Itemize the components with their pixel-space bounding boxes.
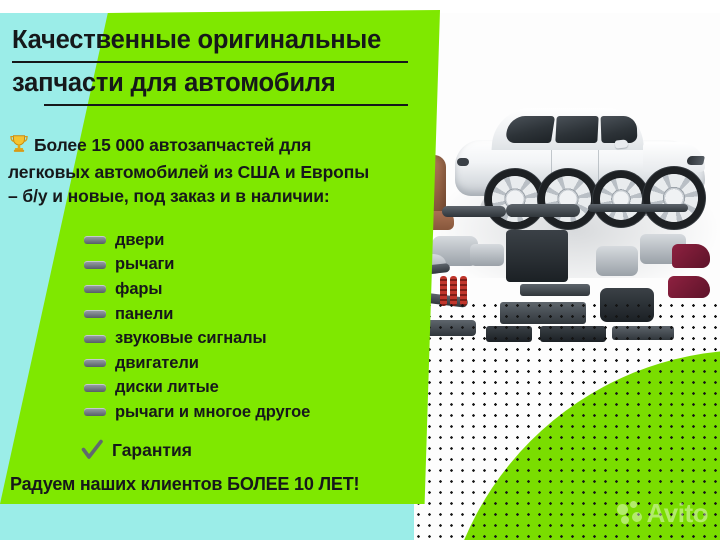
transmission-part xyxy=(596,246,638,276)
headline-rule-1 xyxy=(12,61,408,63)
trophy-icon xyxy=(8,133,32,161)
guarantee-label: Гарантия xyxy=(112,440,192,461)
intro-line-2: легковых автомобилей из США и Европы xyxy=(8,162,369,182)
list-item: звуковые сигналы xyxy=(84,326,424,351)
exhaust-pipe-part xyxy=(442,206,506,217)
parts-list: двери рычаги фары панели звуковые сигнал… xyxy=(84,228,424,425)
muffler-part xyxy=(506,204,580,217)
headline-line-2: запчасти для автомобиля xyxy=(12,71,412,97)
list-item-label: двигатели xyxy=(115,354,199,373)
list-item-label: рычаги xyxy=(115,255,174,274)
intro-paragraph: Более 15 000 автозапчастей для легковых … xyxy=(8,133,420,208)
list-item-label: фары xyxy=(115,280,162,299)
avito-wordmark: Avito xyxy=(646,500,708,526)
ad-content: Качественные оригинальные запчасти для а… xyxy=(0,0,440,540)
dash-bullet-icon xyxy=(84,261,106,269)
advertisement-banner: Качественные оригинальные запчасти для а… xyxy=(0,0,720,540)
headline-line-1: Качественные оригинальные xyxy=(12,28,412,54)
guarantee-row: Гарантия xyxy=(80,438,192,462)
dash-bullet-icon xyxy=(84,285,106,293)
intro-line-1: Более 15 000 автозапчастей для xyxy=(34,135,311,155)
car-door-seam xyxy=(598,150,599,184)
list-item: панели xyxy=(84,302,424,327)
car-door-seam xyxy=(551,150,552,184)
footer-tagline: Радуем наших клиентов БОЛЕЕ 10 ЛЕТ! xyxy=(10,474,430,495)
engine-manifold-part xyxy=(506,230,568,282)
list-item: фары xyxy=(84,277,424,302)
car-rear-door-window xyxy=(555,116,598,143)
car-headlight xyxy=(686,156,705,165)
car-front-door-window xyxy=(601,116,638,143)
dash-bullet-icon xyxy=(84,335,106,343)
dash-bullet-icon xyxy=(84,384,106,392)
page-title: Качественные оригинальные запчасти для а… xyxy=(12,28,412,106)
list-item: двери xyxy=(84,228,424,253)
tail-light-part xyxy=(672,244,710,268)
intro-line-3: – б/у и новые, под заказ и в наличии: xyxy=(8,186,330,206)
alloy-wheel xyxy=(600,178,642,220)
list-item-label: двери xyxy=(115,231,164,250)
list-item-label: рычаги и многое другое xyxy=(115,403,310,422)
gearbox-part xyxy=(470,244,504,266)
headline-rule-2 xyxy=(44,104,408,106)
dash-bullet-icon xyxy=(84,236,106,244)
avito-watermark: Avito xyxy=(617,500,708,526)
avito-logo-icon xyxy=(617,501,641,525)
dash-bullet-icon xyxy=(84,359,106,367)
tail-light-part xyxy=(668,276,710,298)
drive-shaft-part xyxy=(588,204,688,212)
list-item: диски литые xyxy=(84,376,424,401)
list-item-label: панели xyxy=(115,305,173,324)
list-item: двигатели xyxy=(84,351,424,376)
list-item-label: диски литые xyxy=(115,378,219,397)
list-item: рычаги xyxy=(84,253,424,278)
check-mark-icon xyxy=(80,438,104,462)
car-taillight xyxy=(457,158,469,166)
car-rear-window xyxy=(505,116,555,143)
dash-bullet-icon xyxy=(84,310,106,318)
list-item: рычаги и многое другое xyxy=(84,400,424,425)
dash-bullet-icon xyxy=(84,408,106,416)
list-item-label: звуковые сигналы xyxy=(115,329,267,348)
alloy-wheel xyxy=(650,174,698,222)
radiator-part xyxy=(520,284,590,296)
